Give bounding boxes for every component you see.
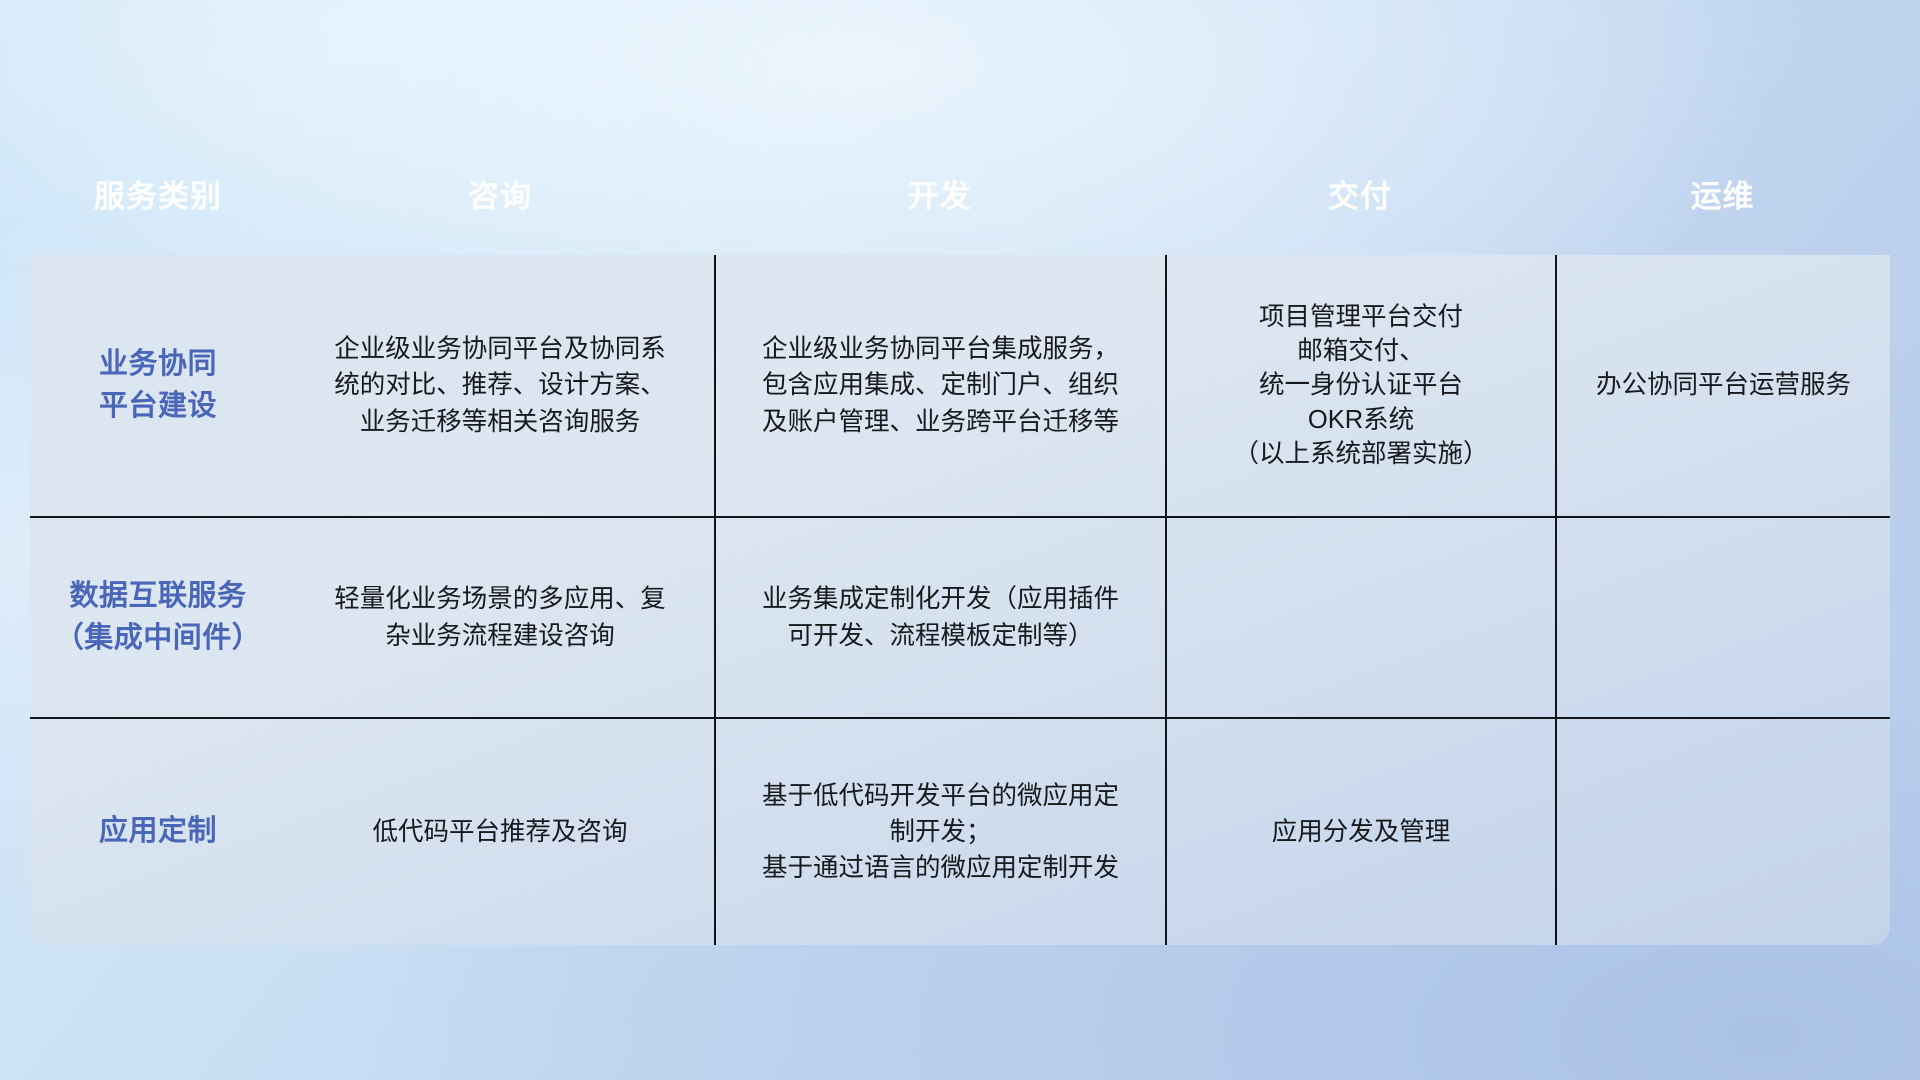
cell-text-development: 基于低代码开发平台的微应用定 制开发； 基于通过语言的微应用定制开发 [762, 778, 1119, 887]
cell-development: 企业级业务协同平台集成服务， 包含应用集成、定制门户、组织 及账户管理、业务跨平… [714, 255, 1165, 516]
table-header-cell-development: 开发 [714, 171, 1165, 216]
row-group-first: 数据互联服务 （集成中间件） 轻量化业务场景的多应用、复 杂业务流程建设咨询 [30, 518, 714, 717]
cell-text-delivery: 项目管理平台交付 邮箱交付、 统一身份认证平台 OKR系统 （以上系统部署实施） [1233, 300, 1488, 471]
cell-consulting: 低代码平台推荐及咨询 [286, 719, 714, 945]
table-body: 业务协同 平台建设 企业级业务协同平台及协同系 统的对比、推荐、设计方案、 业务… [30, 255, 1890, 945]
service-matrix-table: 服务类别 咨询 开发 交付 运维 业务协同 平台建设 企业级业务协同平台及协同系… [30, 132, 1890, 945]
header-label-delivery: 交付 [1328, 171, 1392, 216]
category-label: 业务协同 平台建设 [99, 344, 217, 426]
cell-text-development: 业务集成定制化开发（应用插件 可开发、流程模板定制等） [762, 581, 1119, 653]
header-group-first: 服务类别 咨询 [30, 171, 714, 216]
cell-category: 数据互联服务 （集成中间件） [30, 518, 286, 717]
table-row: 业务协同 平台建设 企业级业务协同平台及协同系 统的对比、推荐、设计方案、 业务… [30, 255, 1890, 518]
header-label-operations: 运维 [1691, 171, 1755, 216]
cell-development: 基于低代码开发平台的微应用定 制开发； 基于通过语言的微应用定制开发 [714, 719, 1165, 945]
category-label: 应用定制 [99, 811, 217, 852]
cell-consulting: 企业级业务协同平台及协同系 统的对比、推荐、设计方案、 业务迁移等相关咨询服务 [286, 255, 714, 516]
cell-operations [1555, 719, 1890, 945]
cell-category: 业务协同 平台建设 [30, 255, 286, 516]
table-header-cell-consulting: 咨询 [286, 171, 714, 216]
cell-text-consulting: 低代码平台推荐及咨询 [372, 814, 627, 850]
cell-text-development: 企业级业务协同平台集成服务， 包含应用集成、定制门户、组织 及账户管理、业务跨平… [762, 331, 1119, 440]
cell-operations [1555, 518, 1890, 717]
cell-operations: 办公协同平台运营服务 [1555, 255, 1890, 516]
table-row: 数据互联服务 （集成中间件） 轻量化业务场景的多应用、复 杂业务流程建设咨询 业… [30, 518, 1890, 719]
cell-delivery: 应用分发及管理 [1165, 719, 1555, 945]
cell-text-delivery: 应用分发及管理 [1272, 814, 1451, 850]
table-header-cell-category: 服务类别 [30, 171, 286, 216]
row-group-first: 业务协同 平台建设 企业级业务协同平台及协同系 统的对比、推荐、设计方案、 业务… [30, 255, 714, 516]
table-header-cell-operations: 运维 [1555, 171, 1890, 216]
category-label: 数据互联服务 （集成中间件） [55, 576, 262, 658]
header-label-development: 开发 [908, 171, 972, 216]
header-label-consulting: 咨询 [468, 171, 532, 216]
header-label-category: 服务类别 [94, 171, 222, 216]
cell-delivery: 项目管理平台交付 邮箱交付、 统一身份认证平台 OKR系统 （以上系统部署实施） [1165, 255, 1555, 516]
cell-development: 业务集成定制化开发（应用插件 可开发、流程模板定制等） [714, 518, 1165, 717]
cell-text-consulting: 企业级业务协同平台及协同系 统的对比、推荐、设计方案、 业务迁移等相关咨询服务 [334, 331, 666, 440]
cell-text-consulting: 轻量化业务场景的多应用、复 杂业务流程建设咨询 [334, 581, 666, 653]
table-row: 应用定制 低代码平台推荐及咨询 基于低代码开发平台的微应用定 制开发； 基于通过… [30, 719, 1890, 945]
cell-delivery [1165, 518, 1555, 717]
table-header-row: 服务类别 咨询 开发 交付 运维 [30, 132, 1890, 255]
table-header-cell-delivery: 交付 [1165, 171, 1555, 216]
cell-consulting: 轻量化业务场景的多应用、复 杂业务流程建设咨询 [286, 518, 714, 717]
row-group-first: 应用定制 低代码平台推荐及咨询 [30, 719, 714, 945]
cell-category: 应用定制 [30, 719, 286, 945]
cell-text-operations: 办公协同平台运营服务 [1596, 367, 1851, 403]
